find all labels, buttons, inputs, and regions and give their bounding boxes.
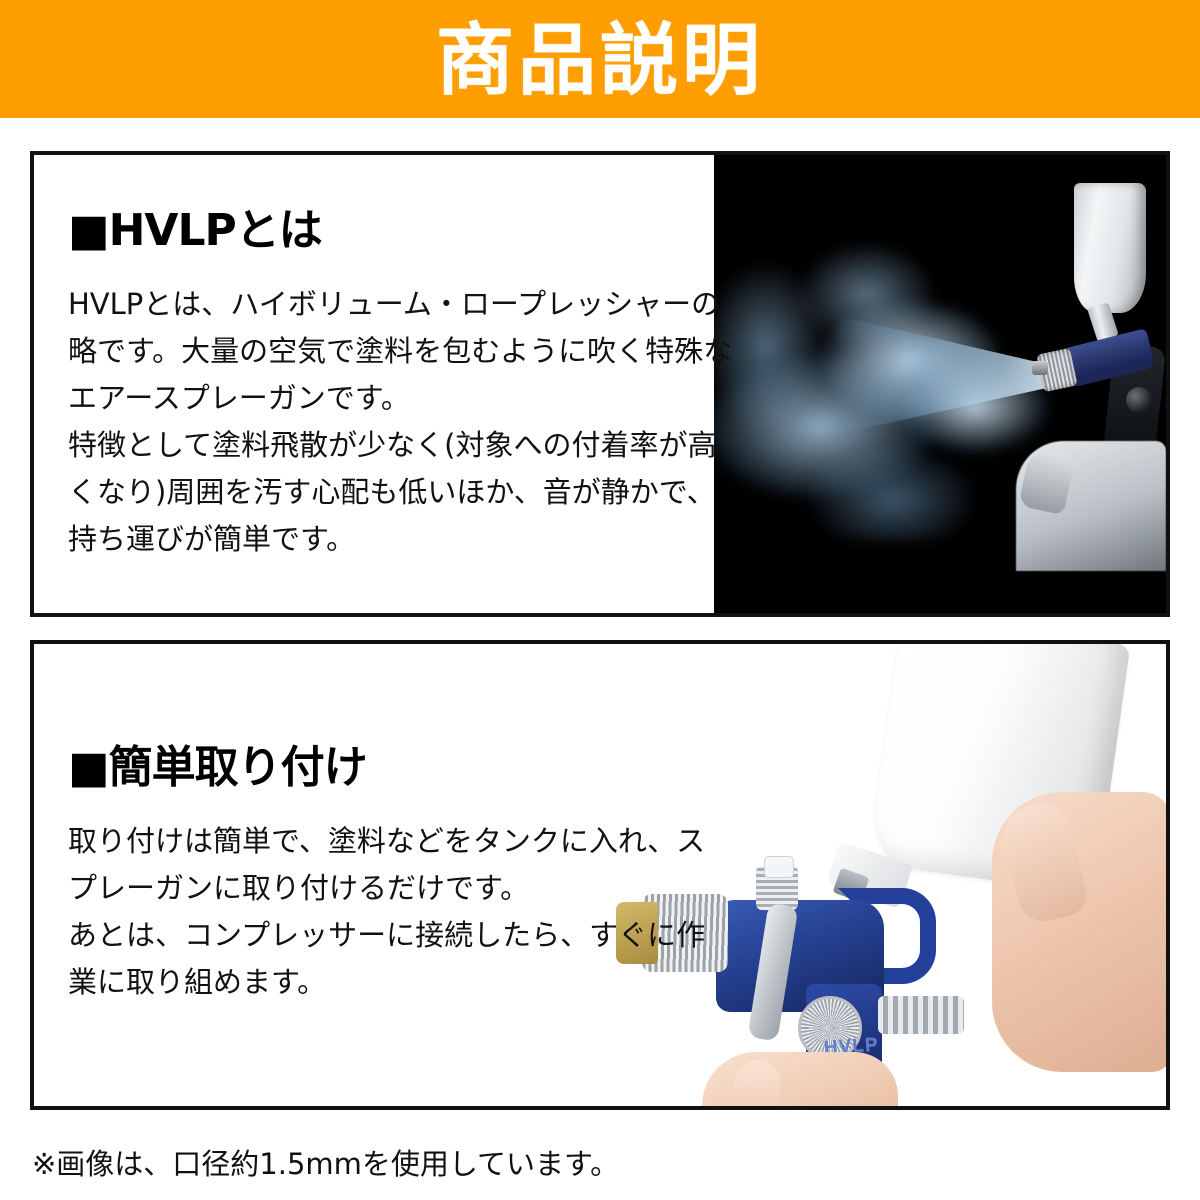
hvlp-text-block: ■HVLPとは HVLPとは、ハイボリューム・ロープレッシャーの略です。大量の空… bbox=[34, 155, 734, 563]
gun-top-nipple-cap bbox=[764, 856, 794, 878]
footnote-text: ※画像は、口径約1.5mmを使用しています。 bbox=[32, 1144, 619, 1185]
easy-mount-paragraph-2: あとは、コンプレッサーに接続したら、すぐに作業に取り組めます。 bbox=[68, 912, 734, 1006]
section-card-hvlp: ■HVLPとは HVLPとは、ハイボリューム・ロープレッシャーの略です。大量の空… bbox=[30, 151, 1170, 617]
spray-gun-cup bbox=[1074, 183, 1146, 313]
spray-gun-knob bbox=[1126, 387, 1152, 413]
hvlp-paragraph-2: 特徴として塗料飛散が少なく(対象への付着率が高くなり)周囲を汚す心配も低いほか、… bbox=[68, 422, 734, 563]
easy-mount-text-block: ■簡単取り付け 取り付けは簡単で、塗料などをタンクに入れ、スプレーガンに取り付け… bbox=[34, 644, 734, 1006]
section-card-easy-mount: ■簡単取り付け 取り付けは簡単で、塗料などをタンクに入れ、スプレーガンに取り付け… bbox=[30, 640, 1170, 1110]
lower-hand bbox=[702, 1052, 898, 1106]
gun-air-fitting bbox=[878, 996, 964, 1034]
page-title: 商品説明 bbox=[436, 22, 764, 100]
easy-mount-paragraph-1: 取り付けは簡単で、塗料などをタンクに入れ、スプレーガンに取り付けるだけです。 bbox=[68, 818, 734, 912]
spray-mist-photo bbox=[714, 155, 1166, 613]
page-header-banner: 商品説明 bbox=[0, 0, 1200, 118]
hvlp-paragraph-1: HVLPとは、ハイボリューム・ロープレッシャーの略です。大量の空気で塗料を包むよ… bbox=[68, 281, 734, 422]
hvlp-heading: ■HVLPとは bbox=[68, 207, 734, 255]
spray-gun-nozzle-tip bbox=[1032, 361, 1048, 375]
easy-mount-heading: ■簡単取り付け bbox=[68, 744, 734, 792]
